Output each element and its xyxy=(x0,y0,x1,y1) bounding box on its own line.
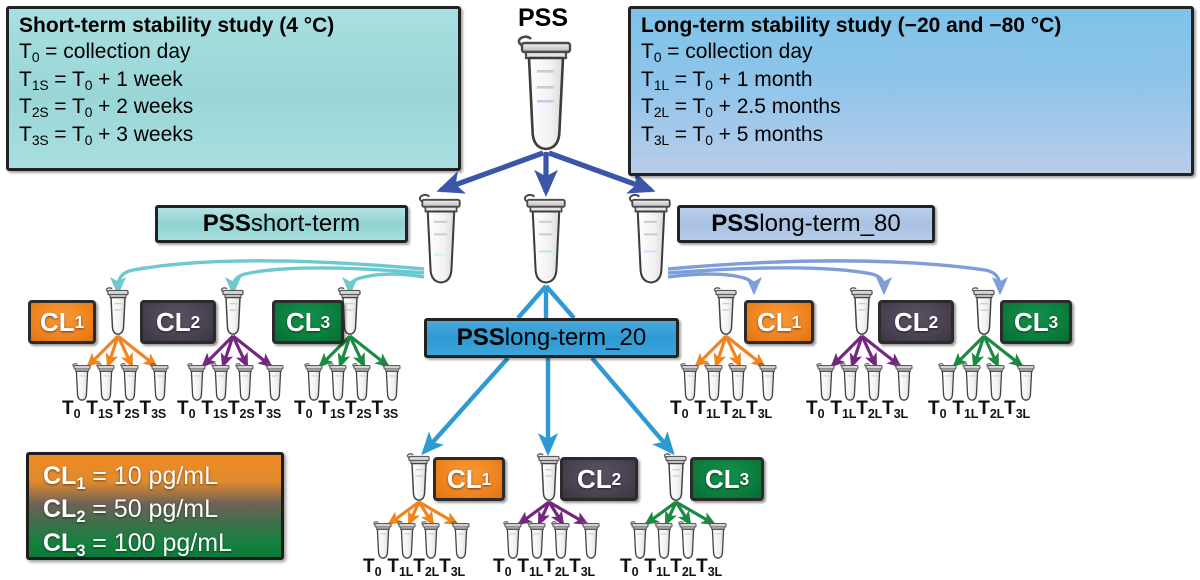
cl3-chip-long80: CL3 xyxy=(1000,300,1072,344)
cl1-chip-short: CL1 xyxy=(28,300,96,344)
long-term-info-box: Long-term stability study (−20 and −80 °… xyxy=(628,6,1194,176)
timepoints-long20-cl1: T0T1LT2LT3L xyxy=(363,556,465,579)
long-term-line-2: T2L = T0 + 2.5 months xyxy=(641,94,1181,122)
cl1-chip-long80: CL1 xyxy=(744,300,814,344)
pss-long-term-20-tube xyxy=(525,195,565,288)
long-term-line-0: T0 = collection day xyxy=(641,39,1181,67)
short-term-info-box: Short-term stability study (4 °C) T0 = c… xyxy=(6,6,461,171)
long-term-20-connectors xyxy=(518,286,574,318)
timepoints-long80-cl3: T0T1LT2LT3L xyxy=(928,398,1030,421)
timepoints-long80-cl2: T0T1LT2LT3L xyxy=(806,398,908,421)
timepoints-long80-cl1: T0T1LT2LT3L xyxy=(670,398,772,421)
pss-long-term-20-label-bold: PSS xyxy=(457,324,505,352)
cl3-chip-short: CL3 xyxy=(272,300,344,344)
pss-long-term-20-label-rest: long-term_20 xyxy=(505,324,646,352)
pss-short-term-label-rest: short-term xyxy=(251,210,360,238)
pss-split-arrows xyxy=(441,152,651,192)
long-term-line-3: T3L = T0 + 5 months xyxy=(641,122,1181,150)
long-term-info-title: Long-term stability study (−20 and −80 °… xyxy=(641,13,1181,39)
cl3-chip-long20: CL3 xyxy=(690,457,764,501)
pss-short-term-label-bold: PSS xyxy=(203,210,251,238)
pss-title: PSS xyxy=(518,4,568,33)
short-term-line-3: T3S = T0 + 3 weeks xyxy=(19,122,448,150)
short-term-connectors xyxy=(118,261,424,292)
short-term-line-2: T2S = T0 + 2 weeks xyxy=(19,94,448,122)
diagram-root: PSS Short-term stability study (4 °C) T0… xyxy=(0,0,1200,580)
legend-row-cl3: CL3 = 100 pg/mL xyxy=(43,528,267,561)
timepoints-long20-cl2: T0T1LT2LT3L xyxy=(493,556,595,579)
long-term-20-split-arrows xyxy=(424,358,672,452)
cl2-chip-short: CL2 xyxy=(140,300,216,344)
pss-main-tube xyxy=(519,37,570,155)
cl2-chip-long20: CL2 xyxy=(560,457,638,501)
timepoints-long20-cl3: T0T1LT2LT3L xyxy=(620,556,722,579)
legend-row-cl1: CL1 = 10 pg/mL xyxy=(43,461,267,494)
cl2-chip-long80: CL2 xyxy=(878,300,954,344)
long-term-line-1: T1L = T0 + 1 month xyxy=(641,67,1181,95)
pss-long-term-80-label-bold: PSS xyxy=(711,210,759,238)
short-term-info-title: Short-term stability study (4 °C) xyxy=(19,13,448,39)
pss-short-term-tube xyxy=(420,195,460,289)
pss-long-term-80-label-rest: long-term_80 xyxy=(759,210,900,238)
pss-short-term-label: PSS short-term xyxy=(155,205,408,243)
short-term-line-0: T0 = collection day xyxy=(19,39,448,67)
pss-long-term-80-tube xyxy=(630,195,670,288)
timepoints-short-cl1: T0T1ST2ST3S xyxy=(62,398,166,421)
pss-long-term-80-label: PSS long-term_80 xyxy=(677,205,935,243)
legend-row-cl2: CL2 = 50 pg/mL xyxy=(43,494,267,527)
timepoints-short-cl2: T0T1ST2ST3S xyxy=(177,398,281,421)
timepoints-short-cl3: T0T1ST2ST3S xyxy=(294,398,398,421)
concentration-legend: CL1 = 10 pg/mL CL2 = 50 pg/mL CL3 = 100 … xyxy=(26,452,284,560)
short-term-line-1: T1S = T0 + 1 week xyxy=(19,67,448,95)
cl1-chip-long20: CL1 xyxy=(433,457,505,501)
pss-long-term-20-label: PSS long-term_20 xyxy=(424,318,679,358)
